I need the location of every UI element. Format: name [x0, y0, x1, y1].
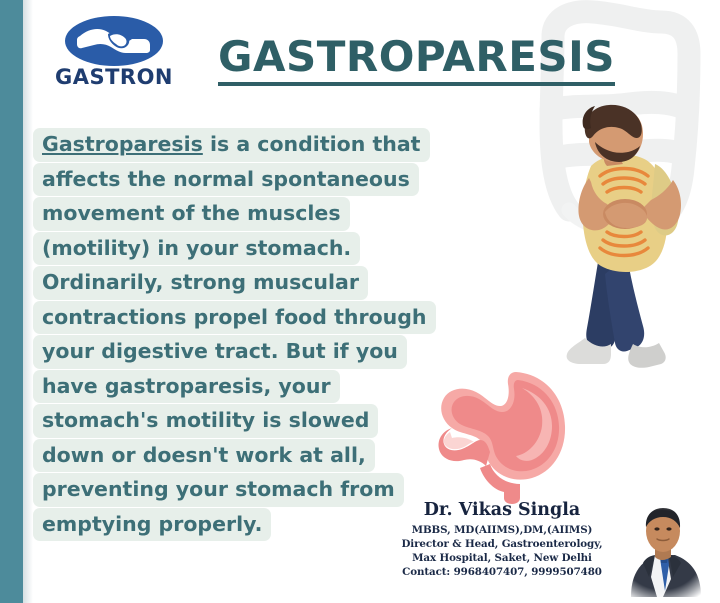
body-line: stomach's motility is slowed	[33, 404, 378, 438]
body-line: emptying properly.	[33, 508, 271, 542]
body-line: Ordinarily, strong muscular	[33, 266, 368, 300]
doctor-portrait-photo	[613, 503, 711, 597]
body-line: down or doesn't work at all,	[33, 439, 375, 473]
body-line: Gastroparesis is a condition that	[33, 128, 430, 162]
page-title: GASTROPARESIS	[218, 36, 615, 86]
left-accent-bar	[0, 0, 23, 603]
body-line: movement of the muscles	[33, 197, 350, 231]
body-line: preventing your stomach from	[33, 473, 404, 507]
body-line: your digestive tract. But if you	[33, 335, 407, 369]
body-line: have gastroparesis, your	[33, 370, 340, 404]
brand-wordmark: GASTRON	[52, 65, 176, 89]
body-line: affects the normal spontaneous	[33, 163, 419, 197]
doctor-designation: Director & Head, Gastroenterology,	[396, 537, 608, 551]
doctor-name: Dr. Vikas Singla	[396, 500, 608, 520]
body-line: contractions propel food through	[33, 301, 436, 335]
body-line: (motility) in your stomach.	[33, 232, 360, 266]
body-text-panel: Gastroparesis is a condition that affect…	[33, 128, 437, 542]
gastroparesis-infographic-poster: GASTRON GASTROPARESIS Gastroparesis is a…	[0, 0, 720, 603]
left-accent-bar-shadow	[23, 0, 33, 603]
brand-logo: GASTRON	[52, 14, 176, 89]
doctor-contact: Contact: 9968407407, 9999507480	[396, 565, 608, 579]
doctor-hospital: Max Hospital, Saket, New Delhi	[396, 551, 608, 565]
man-holding-stomach-in-pain-icon	[561, 104, 711, 372]
doctor-credit-block: Dr. Vikas Singla MBBS, MD(AIIMS),DM,(AII…	[396, 500, 608, 580]
doctor-credentials: MBBS, MD(AIIMS),DM,(AIIMS)	[396, 523, 608, 537]
stomach-duodenum-icon	[424, 368, 584, 508]
caring-hands-logo-icon	[64, 14, 164, 68]
